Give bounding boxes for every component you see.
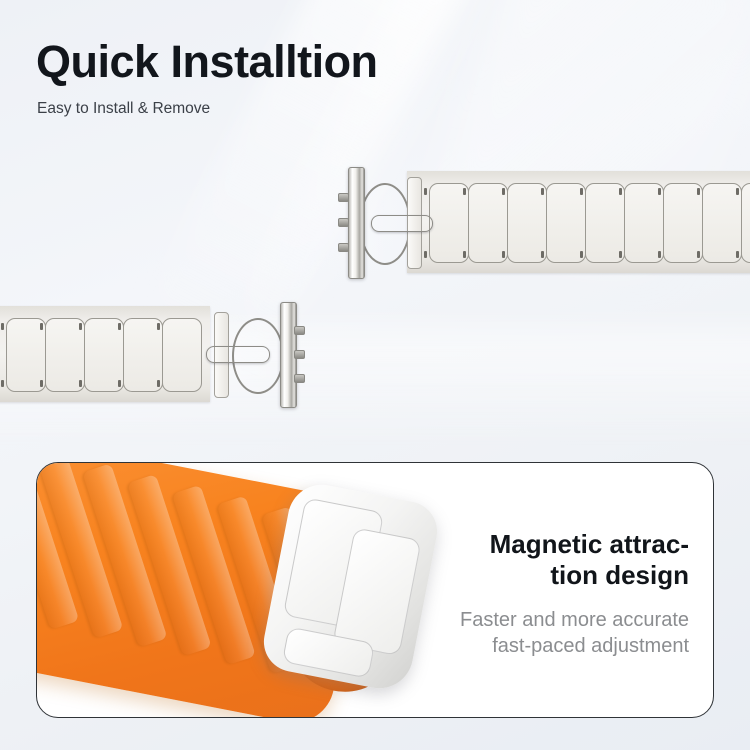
link-tick (424, 188, 427, 195)
link-tick (502, 251, 505, 258)
clasp-metal-bar (348, 167, 365, 279)
link-tick (1, 323, 4, 330)
feature-card: Magnetic attrac- tion design Faster and … (36, 462, 714, 718)
clasp-post (294, 374, 305, 383)
clasp-post (338, 243, 349, 252)
feature-subtitle-line1: Faster and more accurate (389, 607, 689, 633)
link-tick (541, 188, 544, 195)
feature-title-line2: tion design (389, 560, 689, 591)
link-tick (619, 188, 622, 195)
feature-card-text: Magnetic attrac- tion design Faster and … (389, 529, 689, 659)
band-link (162, 318, 202, 392)
link-tick (118, 323, 121, 330)
link-tick (118, 380, 121, 387)
link-tick (580, 188, 583, 195)
link-tick (736, 251, 739, 258)
quick-release-metal-clasp (232, 306, 298, 402)
page-subtitle: Easy to Install & Remove (37, 100, 210, 118)
link-tick (736, 188, 739, 195)
clasp-post (338, 193, 349, 202)
link-tick (40, 323, 43, 330)
product-feature-slide: Quick Installtion Easy to Install & Remo… (0, 0, 750, 750)
feature-title: Magnetic attrac- tion design (389, 529, 689, 591)
link-tick (580, 251, 583, 258)
link-tick (157, 323, 160, 330)
link-tick (40, 380, 43, 387)
link-tick (463, 251, 466, 258)
link-tick (658, 188, 661, 195)
link-tick (697, 251, 700, 258)
link-tick (79, 323, 82, 330)
clasp-post (294, 326, 305, 335)
link-tick (1, 380, 4, 387)
quick-release-metal-clasp (345, 171, 411, 273)
clasp-post (338, 218, 349, 227)
feature-subtitle: Faster and more accurate fast-paced adju… (389, 607, 689, 659)
link-tick (79, 380, 82, 387)
link-tick (658, 251, 661, 258)
link-tick (541, 251, 544, 258)
clasp-release-pin (206, 346, 270, 363)
band-link (741, 183, 750, 263)
link-tick (697, 188, 700, 195)
page-title: Quick Installtion (36, 36, 378, 88)
feature-title-line1: Magnetic attrac- (389, 529, 689, 560)
link-tick (424, 251, 427, 258)
link-tick (463, 188, 466, 195)
link-tick (502, 188, 505, 195)
link-tick (619, 251, 622, 258)
clasp-post (294, 350, 305, 359)
watch-band-link-strap-top (345, 171, 750, 273)
link-tick (157, 380, 160, 387)
watch-band-link-strap-bottom (0, 306, 302, 402)
clasp-release-pin (371, 215, 433, 232)
feature-subtitle-line2: fast-paced adjustment (389, 633, 689, 659)
